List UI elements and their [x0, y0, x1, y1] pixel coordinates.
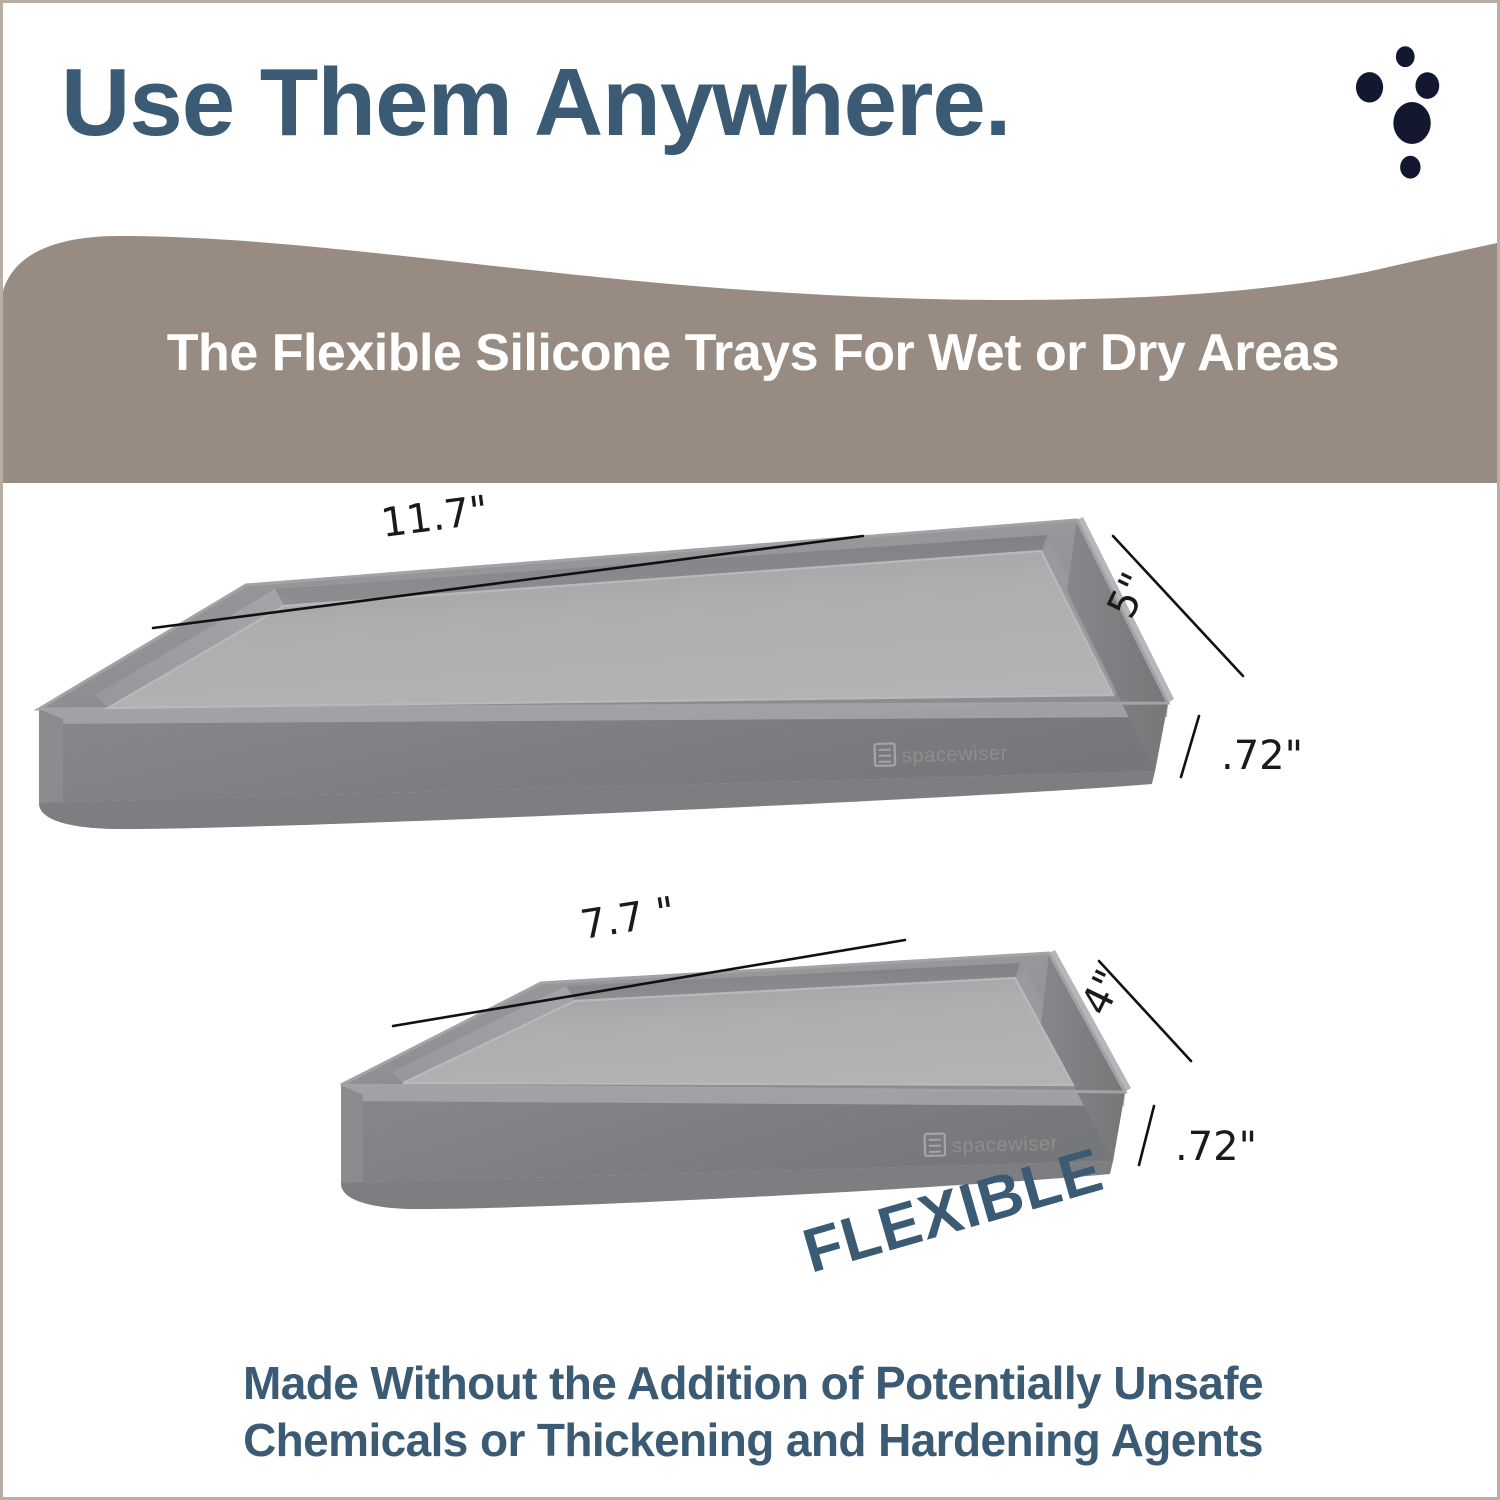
decorative-dots-icon — [1333, 21, 1500, 191]
banner-subtitle: The Flexible Silicone Trays For Wet or D… — [3, 323, 1500, 383]
footer-claim: Made Without the Addition of Potentially… — [3, 1355, 1500, 1469]
infographic-page: Use Them Anywhere. The Flexible Silicone… — [0, 0, 1500, 1500]
dimension-large-height: .72" — [1181, 716, 1303, 779]
dimension-small-height-label: .72" — [1175, 1124, 1257, 1170]
dot-5 — [1400, 156, 1420, 179]
dimension-large-length-label: 11.7" — [378, 487, 490, 546]
dot-4 — [1393, 102, 1430, 144]
brand-text-large: spacewiser — [902, 742, 1009, 767]
dimension-small-length-label: 7.7 " — [577, 889, 678, 949]
footer-line-1: Made Without the Addition of Potentially… — [3, 1355, 1500, 1412]
footer-line-2: Chemicals or Thickening and Hardening Ag… — [3, 1412, 1500, 1469]
product-illustration: spacewiser 11.7" 5" .72" — [3, 473, 1500, 1353]
brand-logo-large: spacewiser — [875, 740, 1009, 768]
dot-1 — [1396, 46, 1415, 67]
tray-small: spacewiser 7.7 " 4" .72" — [341, 889, 1257, 1209]
dimension-small-height: .72" — [1139, 1106, 1257, 1170]
dot-2 — [1356, 72, 1383, 102]
dimension-large-height-label: .72" — [1221, 733, 1303, 779]
page-title: Use Them Anywhere. — [61, 55, 1241, 151]
dot-3 — [1415, 72, 1439, 99]
tray-large: spacewiser 11.7" 5" .72" — [39, 487, 1303, 829]
